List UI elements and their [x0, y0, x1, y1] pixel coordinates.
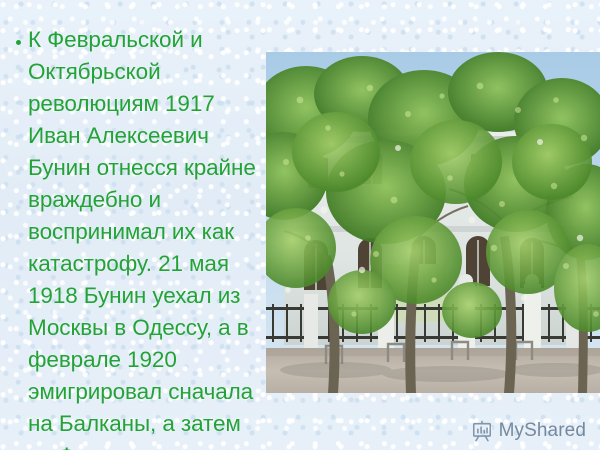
bullet-list-item: К Февральской и Октябрьской революциям 1…: [8, 24, 266, 450]
watermark-label: MyShared: [499, 420, 586, 442]
slide-photo: [266, 52, 600, 393]
myshared-watermark: MyShared: [471, 420, 586, 442]
bullet-dot-icon: [8, 24, 28, 50]
presentation-slide: К Февральской и Октябрьской революциям 1…: [0, 0, 600, 450]
building-photo: [266, 52, 600, 393]
bullet-item-text: К Февральской и Октябрьской революциям 1…: [28, 24, 266, 450]
slide-body-text: К Февральской и Октябрьской революциям 1…: [8, 24, 266, 450]
presentation-chart-icon: [471, 420, 493, 442]
